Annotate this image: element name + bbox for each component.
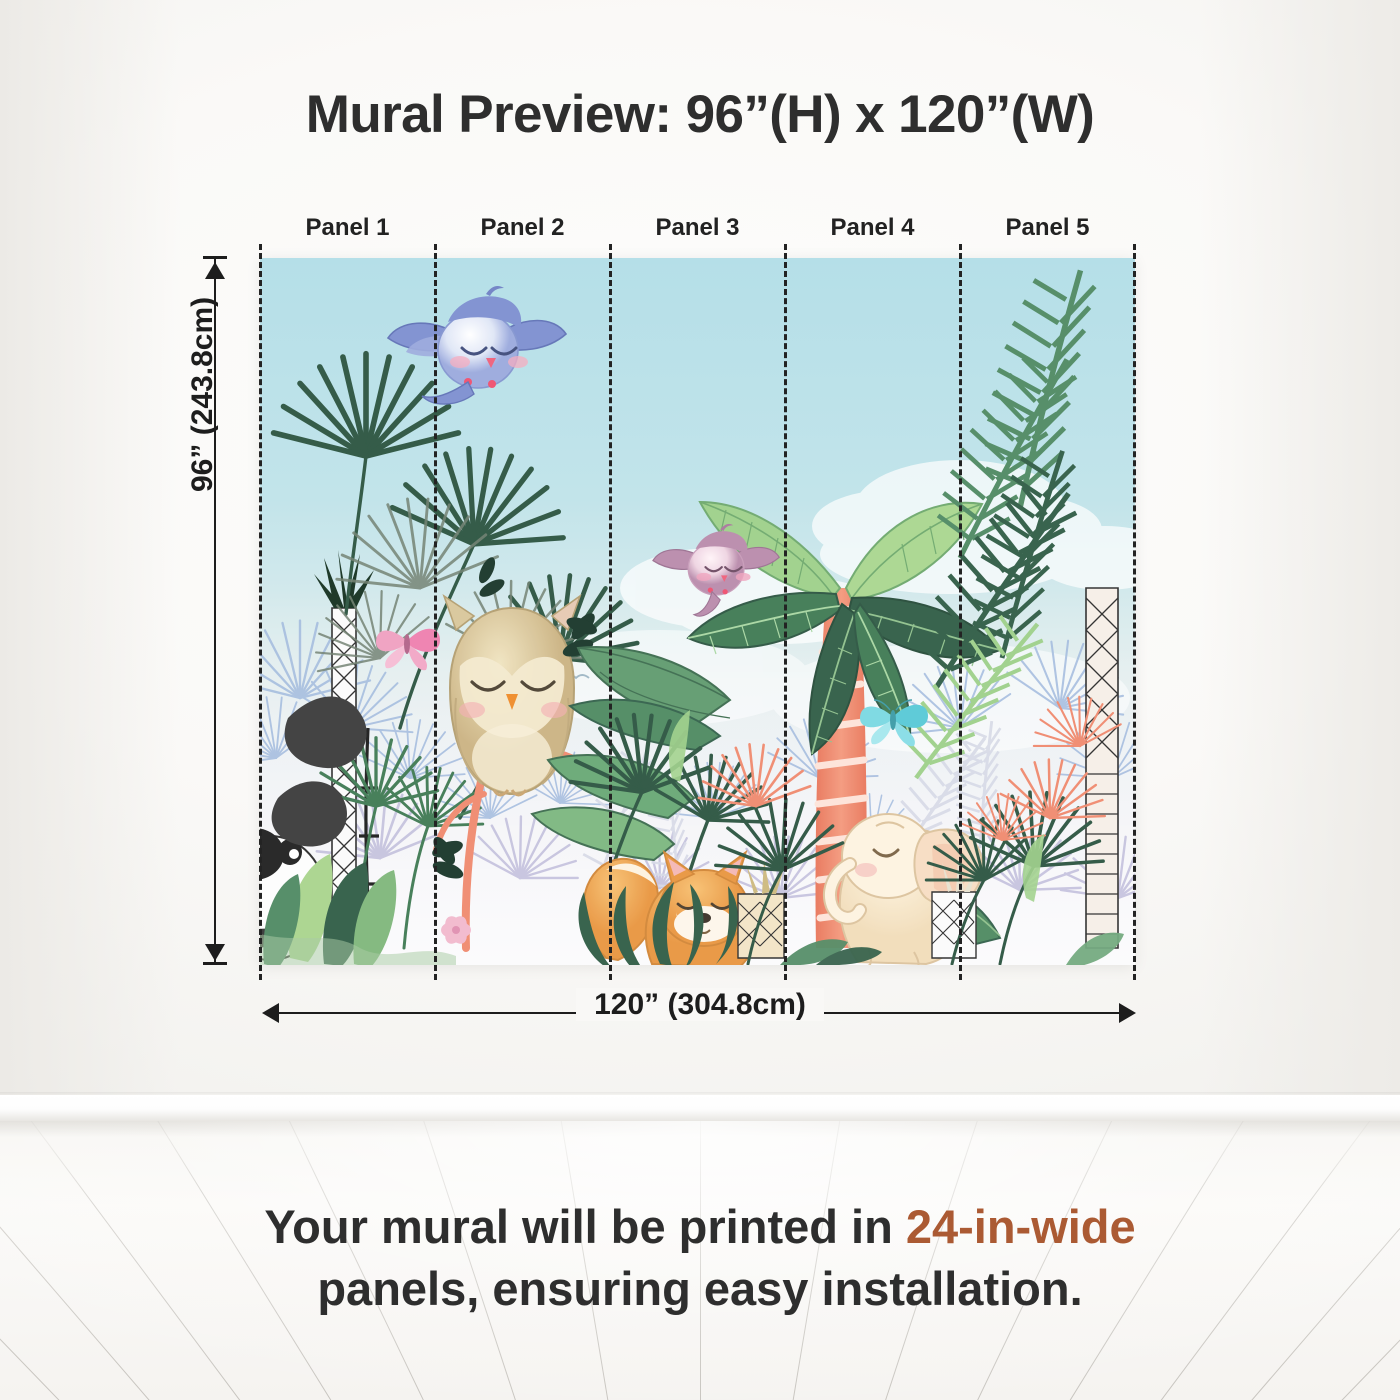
panel-label-1: Panel 1 [260,214,435,248]
page-title: Mural Preview: 96”(H) x 120”(W) [0,84,1400,145]
paper-texture [260,258,1135,965]
footer-caption: Your mural will be printed in 24-in-wide… [0,1196,1400,1320]
panel-divider-left-edge [259,244,262,980]
panel-label-3: Panel 3 [610,214,785,248]
height-dimension-cap-top [203,256,227,259]
mural-artwork [260,258,1135,965]
panel-divider-right-edge [1133,244,1136,980]
caption-accent-text: 24-in-wide [906,1200,1136,1253]
height-arrow-up-icon [205,262,225,279]
mural-preview [260,258,1135,965]
wall-shading-right [1200,0,1400,1100]
panel-divider-4 [959,244,962,980]
panel-label-5: Panel 5 [960,214,1135,248]
panel-divider-3 [784,244,787,980]
panel-labels: Panel 1 Panel 2 Panel 3 Panel 4 Panel 5 [260,214,1135,248]
caption-line2: panels, ensuring easy installation. [317,1262,1082,1315]
panel-divider-2 [609,244,612,980]
panel-label-4: Panel 4 [785,214,960,248]
height-dimension-label: 96” (243.8cm) [186,297,220,492]
baseboard [0,1095,1400,1121]
mural-illustration [260,258,1135,965]
height-dimension-cap-bottom [203,962,227,965]
width-dimension-label: 120” (304.8cm) [0,988,1400,1022]
caption-line1-prefix: Your mural will be printed in [264,1200,906,1253]
height-arrow-down-icon [205,944,225,961]
wall-shading-left [0,0,180,1100]
panel-label-2: Panel 2 [435,214,610,248]
panel-divider-1 [434,244,437,980]
